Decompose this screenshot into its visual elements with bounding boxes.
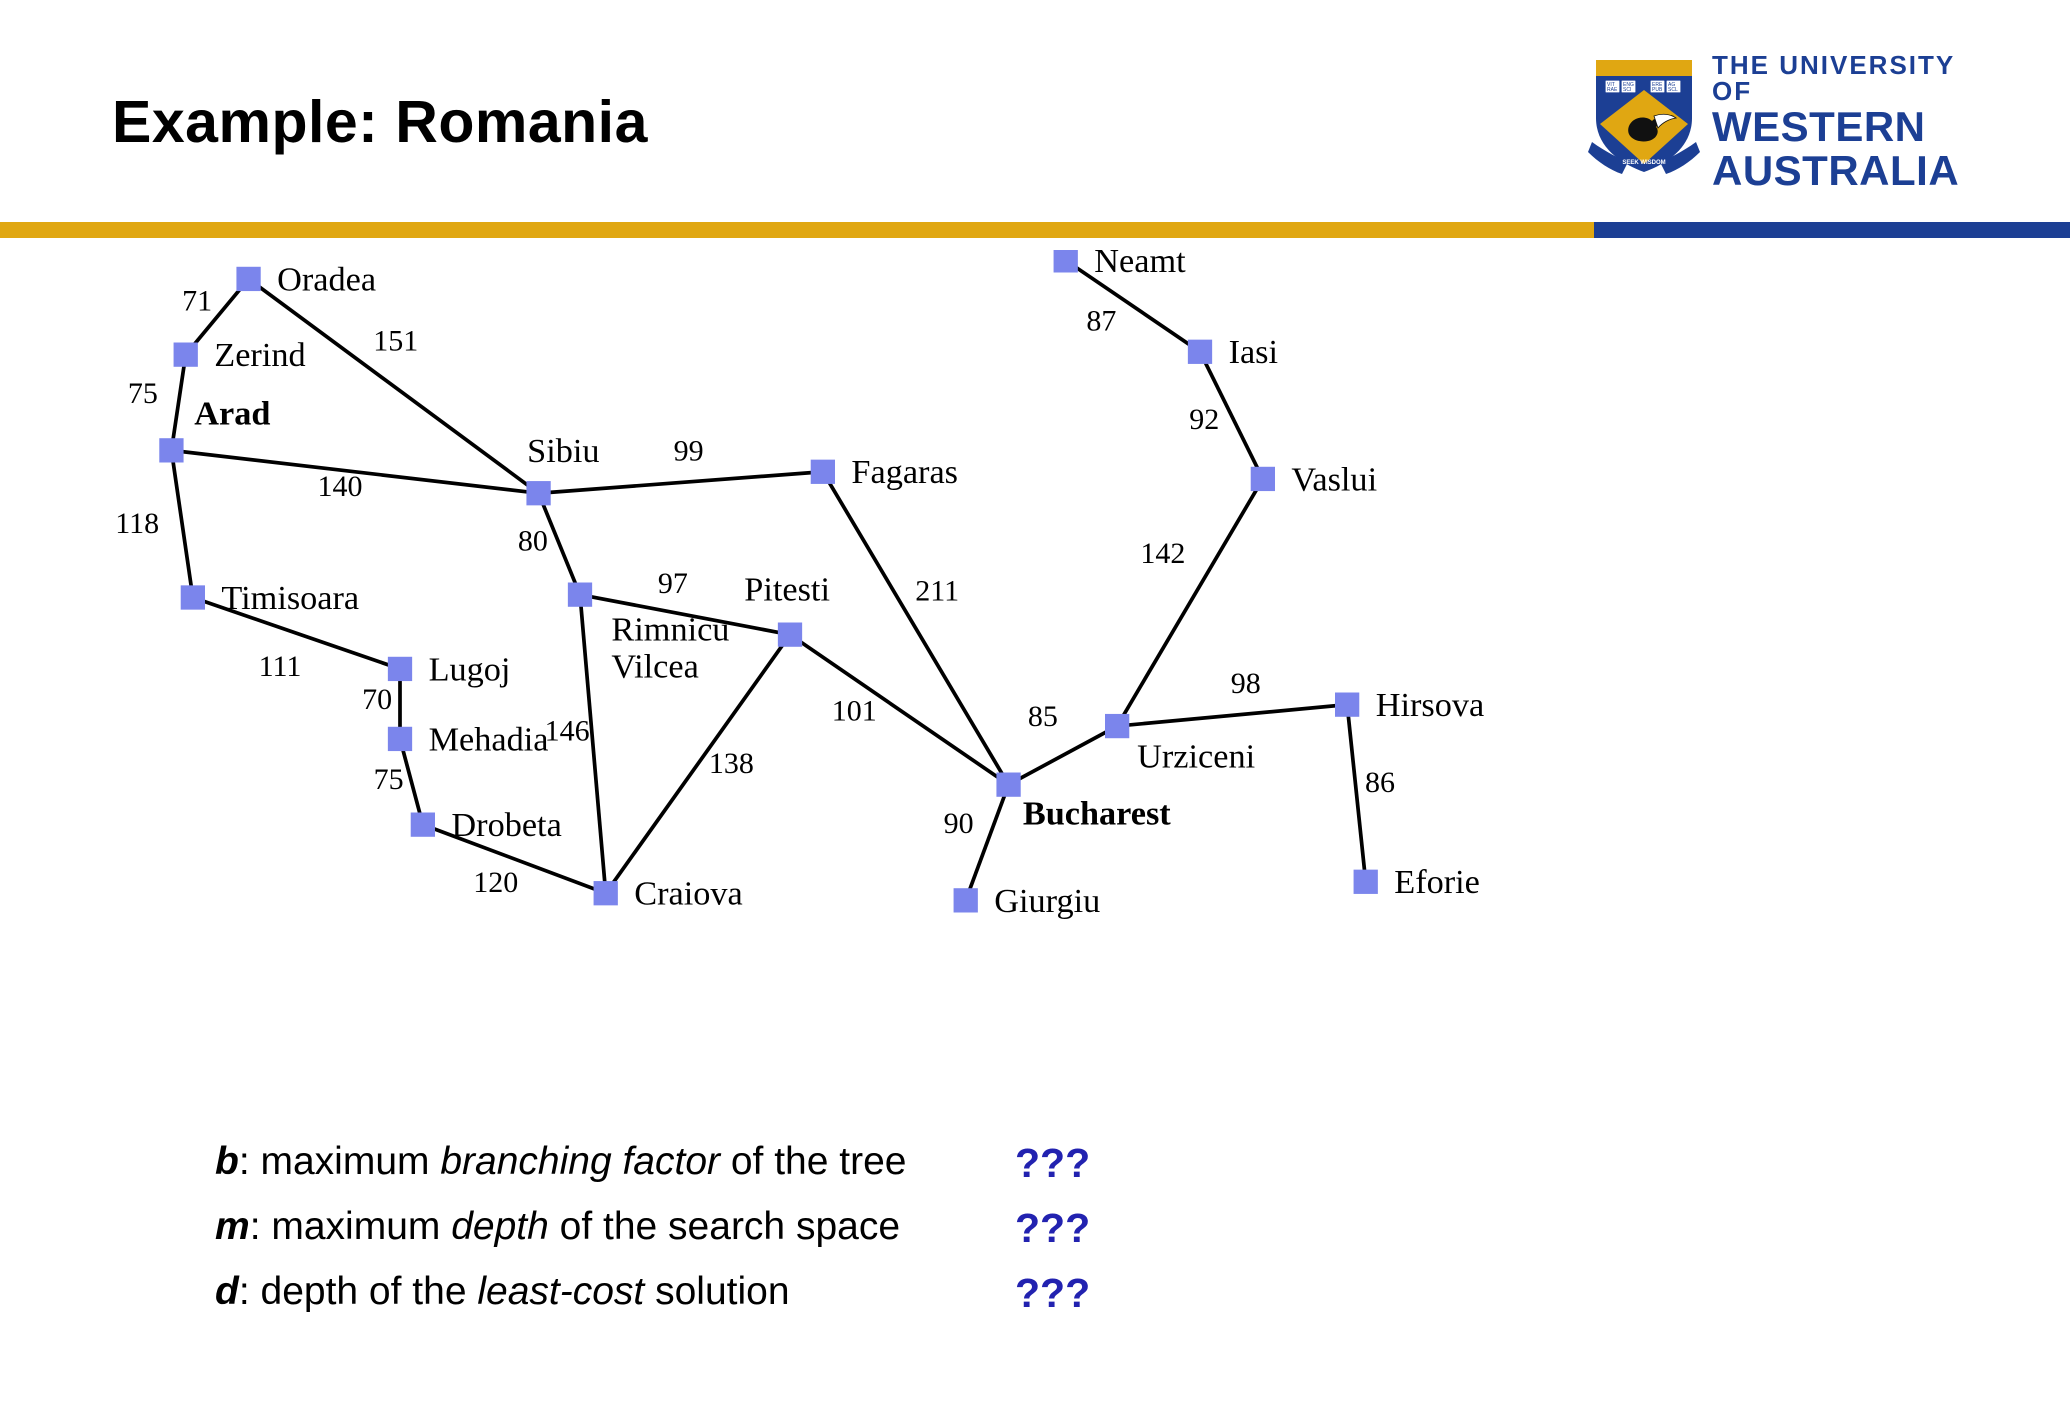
definition-prefix: : depth of the xyxy=(239,1270,478,1313)
map-city-label-line: Mehadia xyxy=(429,720,549,758)
map-city-node-vaslui[interactable] xyxy=(1251,467,1275,491)
definition-prefix: : maximum xyxy=(250,1205,452,1248)
map-city-node-eforie[interactable] xyxy=(1354,870,1378,894)
map-city-label-line: Sibiu xyxy=(527,432,599,470)
svg-text:SCL: SCL xyxy=(1668,87,1678,93)
definition-answer: ??? xyxy=(1015,1270,1090,1317)
definition-text: d: depth of the least-cost solution xyxy=(215,1270,790,1314)
map-city-node-arad[interactable] xyxy=(159,438,183,462)
uwa-wordmark-line1: THE UNIVERSITY OF xyxy=(1712,52,1978,104)
map-edge xyxy=(1117,705,1347,726)
map-edge-cost-label: 118 xyxy=(115,507,159,540)
map-edge-cost-label: 211 xyxy=(915,574,959,607)
definition-answer: ??? xyxy=(1015,1205,1090,1252)
map-edge xyxy=(823,472,1009,785)
definition-emphasis: least-cost xyxy=(477,1270,644,1313)
map-city-node-pitesti[interactable] xyxy=(778,623,802,647)
map-edge xyxy=(171,450,192,597)
map-edge-cost-label: 75 xyxy=(128,377,158,410)
map-city-label-pitesti: Pitesti xyxy=(744,570,830,608)
definition-emphasis: branching factor xyxy=(440,1140,720,1183)
map-city-label-line: Drobeta xyxy=(451,806,561,844)
definition-row: d: depth of the least-cost solution??? xyxy=(215,1270,1415,1335)
map-city-label-fagaras: Fagaras xyxy=(851,453,958,491)
svg-text:PUB: PUB xyxy=(1652,87,1663,93)
map-city-node-bucharest[interactable] xyxy=(996,773,1020,797)
map-city-node-drobeta[interactable] xyxy=(411,813,435,837)
map-city-node-timisoara[interactable] xyxy=(181,585,205,609)
map-edge-cost-label: 90 xyxy=(944,807,974,840)
definition-symbol: d xyxy=(215,1270,239,1313)
page-title: Example: Romania xyxy=(112,88,648,156)
map-city-node-neamt[interactable] xyxy=(1054,250,1078,273)
map-city-node-fagaras[interactable] xyxy=(811,460,835,484)
map-city-label-lugoj: Lugoj xyxy=(429,650,511,688)
map-city-label-hirsova: Hirsova xyxy=(1376,686,1485,724)
map-city-node-zerind[interactable] xyxy=(174,343,198,367)
crest-motto: SEEK WISDOM xyxy=(1622,160,1665,166)
map-city-node-rimnicu[interactable] xyxy=(568,583,592,607)
definition-suffix: of the search space xyxy=(549,1205,900,1248)
map-city-label-line: Hirsova xyxy=(1376,686,1485,724)
map-city-label-line: Arad xyxy=(194,395,270,433)
definition-suffix: solution xyxy=(644,1270,789,1313)
map-city-node-oradea[interactable] xyxy=(236,267,260,291)
definition-symbol: b xyxy=(215,1140,239,1183)
map-city-label-line: Neamt xyxy=(1094,250,1186,280)
map-city-node-mehadia[interactable] xyxy=(388,727,412,751)
definition-row: b: maximum branching factor of the tree?… xyxy=(215,1140,1415,1205)
map-edge-cost-label: 98 xyxy=(1231,667,1261,700)
map-edge-cost-label: 138 xyxy=(709,747,754,780)
map-city-label-urziceni: Urziceni xyxy=(1137,738,1255,776)
map-city-label-rimnicu: RimnicuVilcea xyxy=(611,610,729,685)
uwa-wordmark-line3: AUSTRALIA xyxy=(1712,150,1978,192)
map-city-node-lugoj[interactable] xyxy=(388,657,412,681)
map-city-label-neamt: Neamt xyxy=(1094,250,1186,280)
map-city-node-craiova[interactable] xyxy=(594,881,618,905)
map-city-label-line: Vilcea xyxy=(611,648,698,686)
map-city-label-oradea: Oradea xyxy=(277,260,376,298)
map-city-node-giurgiu[interactable] xyxy=(954,888,978,912)
map-edge-cost-label: 142 xyxy=(1140,537,1185,570)
map-city-label-zerind: Zerind xyxy=(214,336,305,374)
map-city-label-iasi: Iasi xyxy=(1229,333,1278,371)
map-edge-cost-label: 97 xyxy=(658,567,688,600)
definition-answer: ??? xyxy=(1015,1140,1090,1187)
map-edge-cost-label: 99 xyxy=(674,434,704,467)
romania-map-svg: 7115175140118111707512080999714613810121… xyxy=(0,250,1500,965)
map-city-label-line: Oradea xyxy=(277,260,376,298)
map-city-label-drobeta: Drobeta xyxy=(451,806,561,844)
map-edge-cost-label: 75 xyxy=(374,763,404,796)
map-edge-cost-label: 87 xyxy=(1086,304,1116,337)
map-edge-cost-label: 92 xyxy=(1189,403,1219,436)
uwa-crest-icon: VITRAE ENGSCI EREPUB AGSCL SEEK WISDOM xyxy=(1588,46,1700,174)
map-city-label-craiova: Craiova xyxy=(634,875,742,913)
map-edge-cost-label: 146 xyxy=(545,714,590,747)
map-edge-cost-label: 80 xyxy=(518,524,548,557)
map-edge-cost-label: 151 xyxy=(373,324,418,357)
map-city-label-line: Bucharest xyxy=(1023,795,1171,833)
map-city-node-sibiu[interactable] xyxy=(526,481,550,505)
map-city-label-arad: Arad xyxy=(194,395,270,433)
map-edge-cost-label: 140 xyxy=(318,470,363,503)
map-city-label-timisoara: Timisoara xyxy=(221,579,359,617)
header-divider xyxy=(0,222,2070,238)
map-city-label-giurgiu: Giurgiu xyxy=(994,882,1100,920)
map-edge-cost-label: 86 xyxy=(1365,766,1395,799)
map-city-label-vaslui: Vaslui xyxy=(1291,460,1377,498)
definition-text: m: maximum depth of the search space xyxy=(215,1205,900,1249)
uwa-wordmark: THE UNIVERSITY OF WESTERN AUSTRALIA xyxy=(1712,52,1978,192)
map-edge-cost-label: 120 xyxy=(473,866,518,899)
uwa-wordmark-line2: WESTERN xyxy=(1712,106,1978,148)
map-edge-cost-label: 70 xyxy=(362,683,392,716)
header-divider-gold xyxy=(0,222,1594,238)
definition-prefix: : maximum xyxy=(239,1140,441,1183)
definition-text: b: maximum branching factor of the tree xyxy=(215,1140,906,1184)
map-city-label-line: Giurgiu xyxy=(994,882,1100,920)
romania-map-graph: 7115175140118111707512080999714613810121… xyxy=(0,250,1500,970)
map-city-label-line: Iasi xyxy=(1229,333,1278,371)
map-city-label-line: Eforie xyxy=(1394,863,1480,901)
map-edge-cost-label: 71 xyxy=(182,284,212,317)
map-city-label-eforie: Eforie xyxy=(1394,863,1480,901)
map-city-label-line: Zerind xyxy=(214,336,305,374)
map-city-node-urziceni[interactable] xyxy=(1105,714,1129,738)
map-city-label-line: Vaslui xyxy=(1291,460,1377,498)
map-city-node-iasi[interactable] xyxy=(1188,340,1212,364)
header-divider-navy xyxy=(1594,222,2070,238)
map-city-label-line: Timisoara xyxy=(221,579,359,617)
map-edge-cost-label: 85 xyxy=(1028,700,1058,733)
map-city-label-line: Lugoj xyxy=(429,650,511,688)
map-city-label-line: Rimnicu xyxy=(611,610,729,648)
map-edge xyxy=(1347,705,1366,882)
map-edge xyxy=(1009,726,1118,785)
slide-canvas: Example: Romania VITRAE ENGSCI EREPUB AG… xyxy=(0,0,2070,1408)
definition-row: m: maximum depth of the search space??? xyxy=(215,1205,1415,1270)
definition-symbol: m xyxy=(215,1205,250,1248)
definition-emphasis: depth xyxy=(451,1205,549,1248)
definition-list: b: maximum branching factor of the tree?… xyxy=(215,1140,1415,1335)
uwa-logo: VITRAE ENGSCI EREPUB AGSCL SEEK WISDOM T… xyxy=(1588,46,1978,174)
map-city-label-bucharest: Bucharest xyxy=(1023,795,1171,833)
map-edge xyxy=(790,635,1009,785)
map-city-label-line: Craiova xyxy=(634,875,742,913)
map-edge-cost-label: 111 xyxy=(259,650,302,683)
map-city-label-line: Pitesti xyxy=(744,570,830,608)
map-edge-cost-label: 101 xyxy=(832,694,877,727)
map-city-label-mehadia: Mehadia xyxy=(429,720,549,758)
map-edge xyxy=(249,279,539,493)
definition-suffix: of the tree xyxy=(720,1140,906,1183)
svg-text:SCI: SCI xyxy=(1623,87,1631,93)
map-city-label-sibiu: Sibiu xyxy=(527,432,599,470)
map-city-label-line: Urziceni xyxy=(1137,738,1255,776)
map-city-node-hirsova[interactable] xyxy=(1335,693,1359,717)
map-city-label-line: Fagaras xyxy=(851,453,958,491)
map-edge xyxy=(171,355,185,451)
map-edge xyxy=(539,472,823,493)
svg-text:RAE: RAE xyxy=(1607,87,1618,93)
